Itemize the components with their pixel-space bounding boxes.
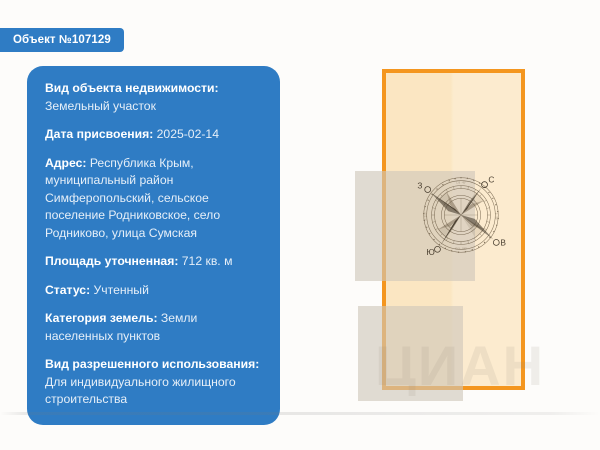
property-info-panel: Вид объекта недвижимости: Земельный учас…: [27, 66, 280, 425]
footer-divider: [0, 412, 600, 415]
building-footprint-a: [355, 171, 475, 281]
info-label-refined-area: Площадь уточненная:: [45, 254, 178, 268]
building-footprint-b: [358, 306, 463, 401]
info-row-assignment-date: Дата присвоения: 2025-02-14: [45, 126, 262, 144]
info-row-permitted-use: Вид разрешенного использования: Для инди…: [45, 356, 262, 409]
info-value-status: Учтенный: [94, 283, 149, 297]
info-row-property-type: Вид объекта недвижимости: Земельный учас…: [45, 80, 262, 115]
info-label-status: Статус:: [45, 283, 90, 297]
info-value-permitted-use: Для индивидуального жилищного строительс…: [45, 375, 236, 407]
info-row-status: Статус: Учтенный: [45, 282, 262, 300]
info-row-refined-area: Площадь уточненная: 712 кв. м: [45, 253, 262, 271]
cadastral-map[interactable]: ЦИАН: [300, 0, 600, 450]
info-value-refined-area: 712 кв. м: [182, 254, 233, 268]
info-label-land-category: Категория земель:: [45, 311, 158, 325]
info-row-address: Адрес: Республика Крым, муниципальный ра…: [45, 155, 262, 243]
screenshot-stage: Объект №107129 Вид объекта недвижимости:…: [0, 0, 600, 450]
info-row-land-category: Категория земель: Земли населенных пункт…: [45, 310, 262, 345]
info-label-property-type: Вид объекта недвижимости:: [45, 81, 219, 95]
info-value-property-type: Земельный участок: [45, 99, 156, 113]
info-label-address: Адрес:: [45, 156, 86, 170]
info-label-assignment-date: Дата присвоения:: [45, 127, 153, 141]
info-label-permitted-use: Вид разрешенного использования:: [45, 357, 259, 371]
object-id-badge: Объект №107129: [0, 28, 124, 52]
info-value-assignment-date: 2025-02-14: [157, 127, 219, 141]
